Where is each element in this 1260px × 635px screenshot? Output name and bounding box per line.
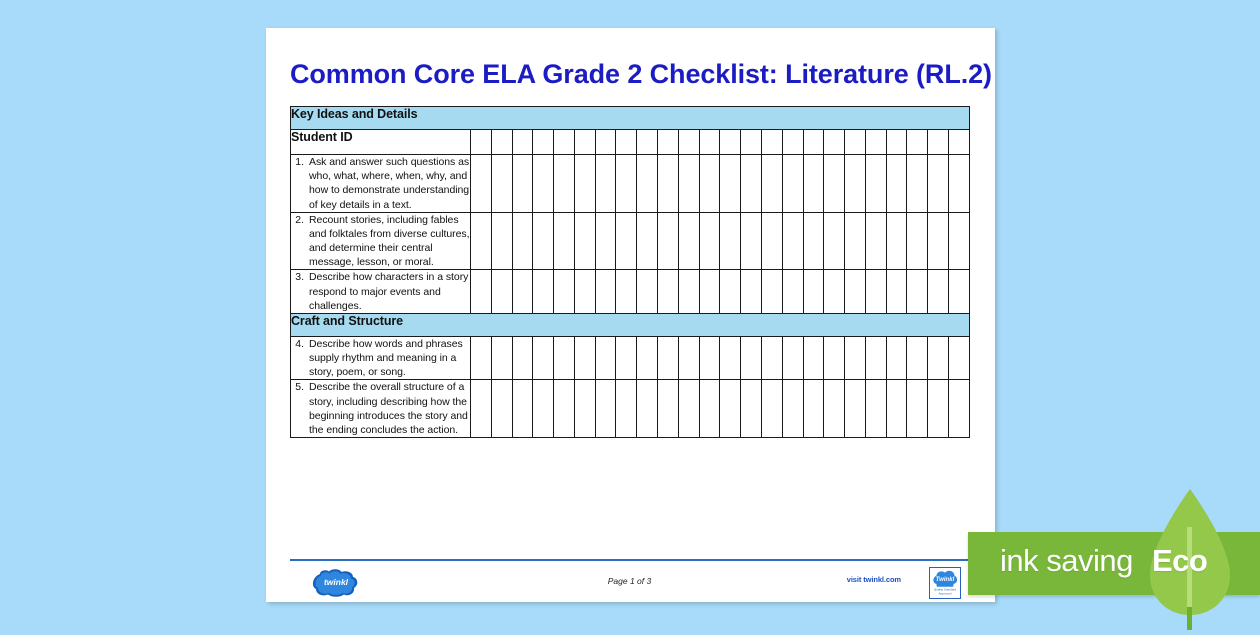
checkbox-cell[interactable]	[803, 155, 824, 213]
checkbox-cell[interactable]	[886, 380, 907, 438]
checkbox-cell[interactable]	[658, 270, 679, 314]
checkbox-cell[interactable]	[699, 270, 720, 314]
checkbox-cell[interactable]	[865, 155, 886, 213]
checkbox-cell[interactable]	[554, 130, 575, 155]
standard-description-cell: 3.Describe how characters in a story res…	[291, 270, 471, 314]
checkbox-cell[interactable]	[574, 130, 595, 155]
checkbox-cell[interactable]	[533, 380, 554, 438]
checkbox-cell[interactable]	[886, 155, 907, 213]
checkbox-cell[interactable]	[845, 130, 866, 155]
checkbox-cell[interactable]	[720, 336, 741, 380]
checkbox-cell[interactable]	[720, 155, 741, 213]
checkbox-cell[interactable]	[678, 270, 699, 314]
checkbox-cell[interactable]	[658, 155, 679, 213]
checkbox-cell[interactable]	[471, 380, 492, 438]
checkbox-cell[interactable]	[886, 130, 907, 155]
standard-row: 3.Describe how characters in a story res…	[291, 270, 970, 314]
checkbox-cell[interactable]	[699, 336, 720, 380]
checkbox-cell[interactable]	[471, 155, 492, 213]
standard-text: Describe the overall structure of a stor…	[309, 380, 470, 437]
checkbox-cell[interactable]	[907, 155, 928, 213]
checkbox-cell[interactable]	[720, 212, 741, 270]
checkbox-cell[interactable]	[595, 380, 616, 438]
checkbox-cell[interactable]	[741, 212, 762, 270]
standard-row: 4.Describe how words and phrases supply …	[291, 336, 970, 380]
student-id-label: Student ID	[291, 130, 471, 155]
checkbox-cell[interactable]	[761, 380, 782, 438]
document-page: Common Core ELA Grade 2 Checklist: Liter…	[266, 28, 995, 602]
checkbox-cell[interactable]	[637, 155, 658, 213]
checkbox-cell[interactable]	[554, 155, 575, 213]
page-content-area: Common Core ELA Grade 2 Checklist: Liter…	[290, 28, 971, 602]
checkbox-cell[interactable]	[928, 336, 949, 380]
standard-description-cell: 5.Describe the overall structure of a st…	[291, 380, 471, 438]
checkbox-cell[interactable]	[491, 270, 512, 314]
checkbox-cell[interactable]	[637, 270, 658, 314]
checkbox-cell[interactable]	[824, 130, 845, 155]
checkbox-cell[interactable]	[616, 270, 637, 314]
checkbox-cell[interactable]	[761, 336, 782, 380]
checkbox-cell[interactable]	[761, 212, 782, 270]
checkbox-cell[interactable]	[782, 336, 803, 380]
standard-number: 5.	[291, 380, 304, 394]
checkbox-cell[interactable]	[948, 380, 969, 438]
checkbox-cell[interactable]	[761, 130, 782, 155]
checkbox-cell[interactable]	[595, 155, 616, 213]
checkbox-cell[interactable]	[574, 380, 595, 438]
checkbox-cell[interactable]	[699, 212, 720, 270]
checkbox-cell[interactable]	[782, 270, 803, 314]
checkbox-cell[interactable]	[782, 380, 803, 438]
checkbox-cell[interactable]	[554, 336, 575, 380]
checkbox-cell[interactable]	[824, 212, 845, 270]
checkbox-cell[interactable]	[720, 380, 741, 438]
standard-number: 1.	[291, 155, 304, 169]
standard-row: 1.Ask and answer such questions as who, …	[291, 155, 970, 213]
standard-text: Ask and answer such questions as who, wh…	[309, 155, 470, 212]
checkbox-cell[interactable]	[595, 212, 616, 270]
visit-twinkl-link[interactable]: visit twinkl.com	[847, 575, 901, 584]
checkbox-cell[interactable]	[865, 380, 886, 438]
section-heading: Craft and Structure	[291, 313, 970, 336]
checkbox-cell[interactable]	[741, 270, 762, 314]
checkbox-cell[interactable]	[803, 212, 824, 270]
checkbox-cell[interactable]	[948, 155, 969, 213]
checkbox-cell[interactable]	[658, 130, 679, 155]
footer-divider	[290, 559, 969, 561]
checkbox-cell[interactable]	[741, 155, 762, 213]
standard-description-cell: 1.Ask and answer such questions as who, …	[291, 155, 471, 213]
checkbox-cell[interactable]	[948, 130, 969, 155]
checkbox-cell[interactable]	[616, 380, 637, 438]
checkbox-cell[interactable]	[928, 380, 949, 438]
checkbox-cell[interactable]	[907, 380, 928, 438]
checkbox-cell[interactable]	[637, 212, 658, 270]
checkbox-cell[interactable]	[678, 155, 699, 213]
checkbox-cell[interactable]	[616, 336, 637, 380]
checkbox-cell[interactable]	[845, 212, 866, 270]
checkbox-cell[interactable]	[491, 130, 512, 155]
checkbox-cell[interactable]	[824, 380, 845, 438]
checkbox-cell[interactable]	[637, 130, 658, 155]
checkbox-cell[interactable]	[865, 130, 886, 155]
checkbox-cell[interactable]	[886, 212, 907, 270]
checkbox-cell[interactable]	[824, 336, 845, 380]
checkbox-cell[interactable]	[678, 380, 699, 438]
checkbox-cell[interactable]	[678, 212, 699, 270]
checkbox-cell[interactable]	[595, 270, 616, 314]
checkbox-cell[interactable]	[865, 336, 886, 380]
checkbox-cell[interactable]	[948, 336, 969, 380]
checkbox-cell[interactable]	[512, 155, 533, 213]
checkbox-cell[interactable]	[658, 212, 679, 270]
checkbox-cell[interactable]	[574, 212, 595, 270]
twinkl-approved-badge-icon: Twinkl Quality Standard Approved	[929, 567, 961, 599]
standard-text: Recount stories, including fables and fo…	[309, 213, 470, 270]
svg-text:Approved: Approved	[939, 591, 952, 595]
checkbox-cell[interactable]	[699, 380, 720, 438]
checkbox-cell[interactable]	[512, 130, 533, 155]
checkbox-cell[interactable]	[845, 380, 866, 438]
checkbox-cell[interactable]	[741, 380, 762, 438]
checkbox-cell[interactable]	[554, 380, 575, 438]
checkbox-cell[interactable]	[471, 130, 492, 155]
standard-text: Describe how words and phrases supply rh…	[309, 337, 470, 380]
checkbox-cell[interactable]	[658, 380, 679, 438]
checkbox-cell[interactable]	[512, 270, 533, 314]
standard-number: 2.	[291, 213, 304, 227]
section-header-row: Key Ideas and Details	[291, 107, 970, 130]
standard-number: 4.	[291, 337, 304, 351]
checkbox-cell[interactable]	[865, 270, 886, 314]
svg-text:Twinkl: Twinkl	[936, 576, 955, 583]
section-header-row: Craft and Structure	[291, 313, 970, 336]
checkbox-cell[interactable]	[741, 130, 762, 155]
checkbox-cell[interactable]	[533, 336, 554, 380]
checkbox-cell[interactable]	[533, 270, 554, 314]
checkbox-cell[interactable]	[741, 336, 762, 380]
checkbox-cell[interactable]	[658, 336, 679, 380]
checkbox-cell[interactable]	[845, 270, 866, 314]
standard-text: Describe how characters in a story respo…	[309, 270, 470, 313]
checkbox-cell[interactable]	[699, 130, 720, 155]
checkbox-cell[interactable]	[491, 380, 512, 438]
checkbox-cell[interactable]	[471, 270, 492, 314]
checkbox-cell[interactable]	[512, 380, 533, 438]
checklist-table: Key Ideas and DetailsStudent ID1.Ask and…	[290, 106, 970, 438]
checkbox-cell[interactable]	[678, 336, 699, 380]
checkbox-cell[interactable]	[574, 336, 595, 380]
checkbox-cell[interactable]	[907, 270, 928, 314]
checkbox-cell[interactable]	[948, 212, 969, 270]
checkbox-cell[interactable]	[907, 212, 928, 270]
checkbox-cell[interactable]	[554, 270, 575, 314]
checkbox-cell[interactable]	[907, 130, 928, 155]
checkbox-cell[interactable]	[782, 212, 803, 270]
standard-row: 5.Describe the overall structure of a st…	[291, 380, 970, 438]
checkbox-cell[interactable]	[845, 155, 866, 213]
checkbox-cell[interactable]	[803, 270, 824, 314]
checkbox-cell[interactable]	[512, 336, 533, 380]
checkbox-cell[interactable]	[471, 336, 492, 380]
checkbox-cell[interactable]	[491, 336, 512, 380]
checkbox-cell[interactable]	[782, 130, 803, 155]
checkbox-cell[interactable]	[720, 130, 741, 155]
checkbox-cell[interactable]	[595, 336, 616, 380]
checkbox-cell[interactable]	[616, 212, 637, 270]
checkbox-cell[interactable]	[595, 130, 616, 155]
checkbox-cell[interactable]	[948, 270, 969, 314]
checkbox-cell[interactable]	[824, 270, 845, 314]
checkbox-cell[interactable]	[554, 212, 575, 270]
standard-row: 2.Recount stories, including fables and …	[291, 212, 970, 270]
checkbox-cell[interactable]	[533, 155, 554, 213]
checkbox-cell[interactable]	[928, 270, 949, 314]
checkbox-cell[interactable]	[637, 380, 658, 438]
standard-description-cell: 2.Recount stories, including fables and …	[291, 212, 471, 270]
page-footer: twinkl Page 1 of 3 visit twinkl.com Twin…	[290, 565, 969, 605]
checkbox-cell[interactable]	[533, 130, 554, 155]
checkbox-cell[interactable]	[574, 270, 595, 314]
checkbox-cell[interactable]	[574, 155, 595, 213]
student-id-row: Student ID	[291, 130, 970, 155]
checkbox-cell[interactable]	[720, 270, 741, 314]
standard-number: 3.	[291, 270, 304, 284]
standard-description-cell: 4.Describe how words and phrases supply …	[291, 336, 471, 380]
checkbox-cell[interactable]	[699, 155, 720, 213]
checkbox-cell[interactable]	[512, 212, 533, 270]
checkbox-cell[interactable]	[886, 336, 907, 380]
checkbox-cell[interactable]	[637, 336, 658, 380]
checkbox-cell[interactable]	[616, 155, 637, 213]
checkbox-cell[interactable]	[761, 270, 782, 314]
checkbox-cell[interactable]	[616, 130, 637, 155]
checkbox-cell[interactable]	[928, 212, 949, 270]
checkbox-cell[interactable]	[845, 336, 866, 380]
checkbox-cell[interactable]	[928, 130, 949, 155]
checkbox-cell[interactable]	[782, 155, 803, 213]
eco-badge-primary-text: ink saving	[1000, 543, 1133, 579]
checkbox-cell[interactable]	[678, 130, 699, 155]
checkbox-cell[interactable]	[928, 155, 949, 213]
checkbox-cell[interactable]	[761, 155, 782, 213]
checkbox-cell[interactable]	[907, 336, 928, 380]
section-heading: Key Ideas and Details	[291, 107, 970, 130]
checkbox-cell[interactable]	[824, 155, 845, 213]
checkbox-cell[interactable]	[865, 212, 886, 270]
checkbox-cell[interactable]	[886, 270, 907, 314]
checkbox-cell[interactable]	[471, 212, 492, 270]
page-title: Common Core ELA Grade 2 Checklist: Liter…	[290, 60, 975, 88]
checkbox-cell[interactable]	[533, 212, 554, 270]
eco-badge-secondary-text: Eco	[1152, 543, 1207, 579]
checkbox-cell[interactable]	[803, 336, 824, 380]
checkbox-cell[interactable]	[491, 212, 512, 270]
checkbox-cell[interactable]	[803, 130, 824, 155]
checkbox-cell[interactable]	[803, 380, 824, 438]
checkbox-cell[interactable]	[491, 155, 512, 213]
